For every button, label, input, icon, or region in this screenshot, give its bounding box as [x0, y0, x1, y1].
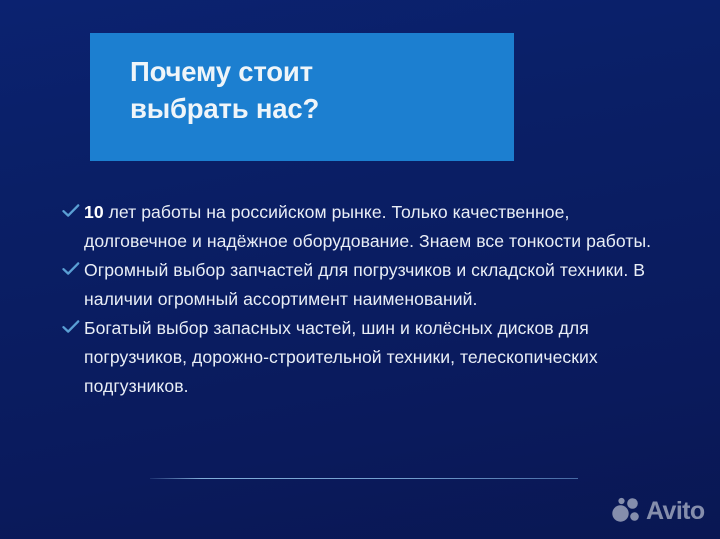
list-item-text: Богатый выбор запасных частей, шин и кол…	[84, 314, 674, 401]
list-item: Богатый выбор запасных частей, шин и кол…	[62, 314, 674, 401]
avito-watermark: Avito	[610, 497, 705, 525]
slide-canvas: Почему стоит выбрать нас? 10 лет работы …	[0, 0, 720, 539]
avito-dots-icon	[610, 497, 644, 525]
list-item: Огромный выбор запчастей для погрузчиков…	[62, 256, 674, 314]
divider	[150, 478, 578, 479]
list-item-body: лет работы на российском рынке. Только к…	[84, 202, 651, 251]
list-item-lead: 10	[84, 202, 104, 222]
avito-wordmark: Avito	[646, 497, 705, 525]
benefits-list: 10 лет работы на российском рынке. Тольк…	[62, 198, 674, 401]
list-item-body: Огромный выбор запчастей для погрузчиков…	[84, 260, 645, 309]
list-item-body: Богатый выбор запасных частей, шин и кол…	[84, 318, 598, 396]
list-item: 10 лет работы на российском рынке. Тольк…	[62, 198, 674, 256]
check-icon	[62, 262, 84, 276]
list-item-text: Огромный выбор запчастей для погрузчиков…	[84, 256, 674, 314]
page-title: Почему стоит выбрать нас?	[130, 54, 500, 127]
check-icon	[62, 320, 84, 334]
title-card: Почему стоит выбрать нас?	[90, 33, 514, 161]
list-item-text: 10 лет работы на российском рынке. Тольк…	[84, 198, 674, 256]
check-icon	[62, 204, 84, 218]
